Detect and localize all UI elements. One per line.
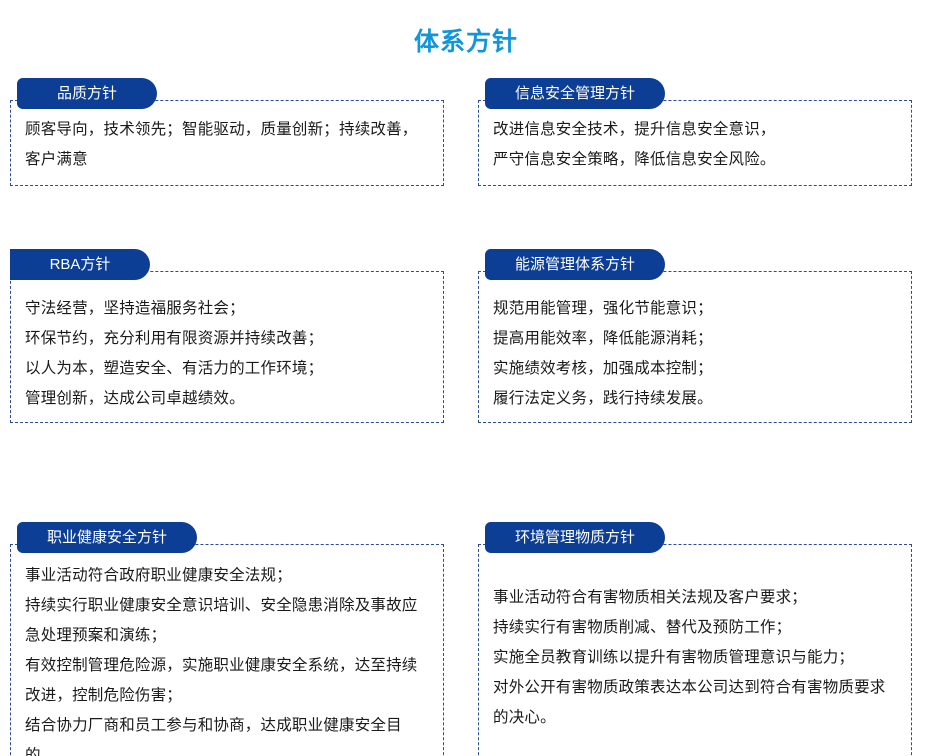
policy-card-environment-hazardous-substance: 环境管理物质方针 事业活动符合有害物质相关法规及客户要求； 持续实行有害物质削减… <box>478 522 912 756</box>
policy-line: 对外公开有害物质政策表达本公司达到符合有害物质要求的决心。 <box>493 673 897 733</box>
policy-row-3: 职业健康安全方针 事业活动符合政府职业健康安全法规； 持续实行职业健康安全意识培… <box>0 522 932 756</box>
policy-line: 持续实行有害物质削减、替代及预防工作； <box>493 613 897 643</box>
policy-line: 管理创新，达成公司卓越绩效。 <box>25 384 429 414</box>
policy-card-badge-occupational-health-safety: 职业健康安全方针 <box>17 522 197 553</box>
policy-card-body-quality: 顾客导向，技术领先；智能驱动，质量创新；持续改善，客户满意 <box>10 100 444 186</box>
policy-card-body-environment-hazardous-substance: 事业活动符合有害物质相关法规及客户要求； 持续实行有害物质削减、替代及预防工作；… <box>478 544 912 756</box>
policy-line: 实施绩效考核，加强成本控制； <box>493 354 897 384</box>
policy-line: 顾客导向，技术领先；智能驱动，质量创新；持续改善，客户满意 <box>25 115 429 175</box>
policy-card-badge-information-security: 信息安全管理方针 <box>485 78 665 109</box>
policy-line: 持续实行职业健康安全意识培训、安全隐患消除及事故应急处理预案和演练； <box>25 591 429 651</box>
policy-card-badge-rba: RBA方针 <box>10 249 150 280</box>
policy-row-2: RBA方针 守法经营，坚持造福服务社会； 环保节约，充分利用有限资源并持续改善；… <box>0 249 932 477</box>
page-title: 体系方针 <box>0 26 932 58</box>
policy-card-information-security: 信息安全管理方针 改进信息安全技术，提升信息安全意识， 严守信息安全策略，降低信… <box>478 78 912 186</box>
policy-line: 结合协力厂商和员工参与和协商，达成职业健康安全目的。 <box>25 711 429 756</box>
policy-card-body-occupational-health-safety: 事业活动符合政府职业健康安全法规； 持续实行职业健康安全意识培训、安全隐患消除及… <box>10 544 444 756</box>
policy-row-1: 品质方针 顾客导向，技术领先；智能驱动，质量创新；持续改善，客户满意 信息安全管… <box>0 78 932 230</box>
policy-card-body-information-security: 改进信息安全技术，提升信息安全意识， 严守信息安全策略，降低信息安全风险。 <box>478 100 912 186</box>
policy-card-rba: RBA方针 守法经营，坚持造福服务社会； 环保节约，充分利用有限资源并持续改善；… <box>10 249 444 423</box>
policy-card-badge-energy-management: 能源管理体系方针 <box>485 249 665 280</box>
policy-card-energy-management: 能源管理体系方针 规范用能管理，强化节能意识； 提高用能效率，降低能源消耗； 实… <box>478 249 912 423</box>
policy-card-occupational-health-safety: 职业健康安全方针 事业活动符合政府职业健康安全法规； 持续实行职业健康安全意识培… <box>10 522 444 756</box>
policy-card-badge-environment-hazardous-substance: 环境管理物质方针 <box>485 522 665 553</box>
policy-line: 严守信息安全策略，降低信息安全风险。 <box>493 145 897 175</box>
policy-line: 环保节约，充分利用有限资源并持续改善； <box>25 324 429 354</box>
policy-card-badge-quality: 品质方针 <box>17 78 157 109</box>
policy-overview-page: 体系方针 品质方针 顾客导向，技术领先；智能驱动，质量创新；持续改善，客户满意 … <box>0 0 932 756</box>
policy-line: 规范用能管理，强化节能意识； <box>493 294 897 324</box>
policy-card-body-rba: 守法经营，坚持造福服务社会； 环保节约，充分利用有限资源并持续改善； 以人为本，… <box>10 271 444 423</box>
policy-line: 事业活动符合政府职业健康安全法规； <box>25 561 429 591</box>
policy-line: 提高用能效率，降低能源消耗； <box>493 324 897 354</box>
policy-card-grid: 品质方针 顾客导向，技术领先；智能驱动，质量创新；持续改善，客户满意 信息安全管… <box>0 78 932 756</box>
policy-card-body-energy-management: 规范用能管理，强化节能意识； 提高用能效率，降低能源消耗； 实施绩效考核，加强成… <box>478 271 912 423</box>
policy-line: 履行法定义务，践行持续发展。 <box>493 384 897 414</box>
policy-line: 有效控制管理危险源，实施职业健康安全系统，达至持续改进，控制危险伤害； <box>25 651 429 711</box>
policy-line: 改进信息安全技术，提升信息安全意识， <box>493 115 897 145</box>
policy-card-quality: 品质方针 顾客导向，技术领先；智能驱动，质量创新；持续改善，客户满意 <box>10 78 444 186</box>
policy-line: 事业活动符合有害物质相关法规及客户要求； <box>493 583 897 613</box>
policy-line: 实施全员教育训练以提升有害物质管理意识与能力； <box>493 643 897 673</box>
policy-line: 以人为本，塑造安全、有活力的工作环境； <box>25 354 429 384</box>
policy-line: 守法经营，坚持造福服务社会； <box>25 294 429 324</box>
